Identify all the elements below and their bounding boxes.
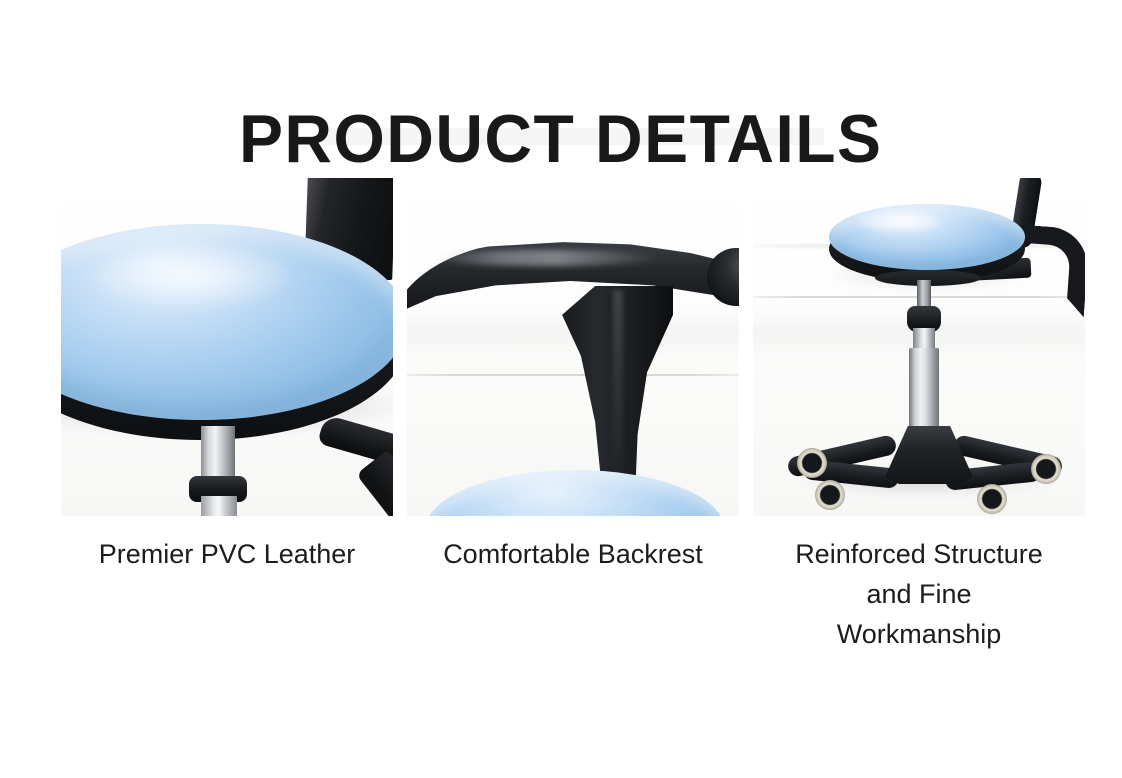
gas-cylinder-lower [201, 496, 237, 516]
caption-row: Premier PVC Leather Comfortable Backrest… [61, 534, 1085, 654]
caster-wheel [797, 448, 827, 478]
seat-highlight [857, 212, 941, 232]
product-image-pvc-leather [61, 178, 393, 516]
caster-wheel [977, 484, 1007, 514]
product-detail-gallery [61, 178, 1085, 516]
backdrop-floor-line [407, 374, 739, 376]
page-title: PRODUCT DETAILS [239, 104, 883, 174]
caption-structure: Reinforced Structure and Fine Workmanshi… [753, 534, 1085, 654]
backrest-bar-sheen [431, 250, 661, 266]
five-star-base [793, 420, 1057, 490]
caption-backrest: Comfortable Backrest [407, 534, 739, 654]
caster-wheel [1031, 454, 1061, 484]
product-image-backrest [407, 178, 739, 516]
backrest-stem-edge [613, 290, 623, 486]
product-image-structure [753, 178, 1085, 516]
caster-wheel [815, 480, 845, 510]
caption-pvc-leather: Premier PVC Leather [61, 534, 393, 654]
base-hub [885, 426, 973, 484]
seat-highlight [97, 244, 287, 308]
